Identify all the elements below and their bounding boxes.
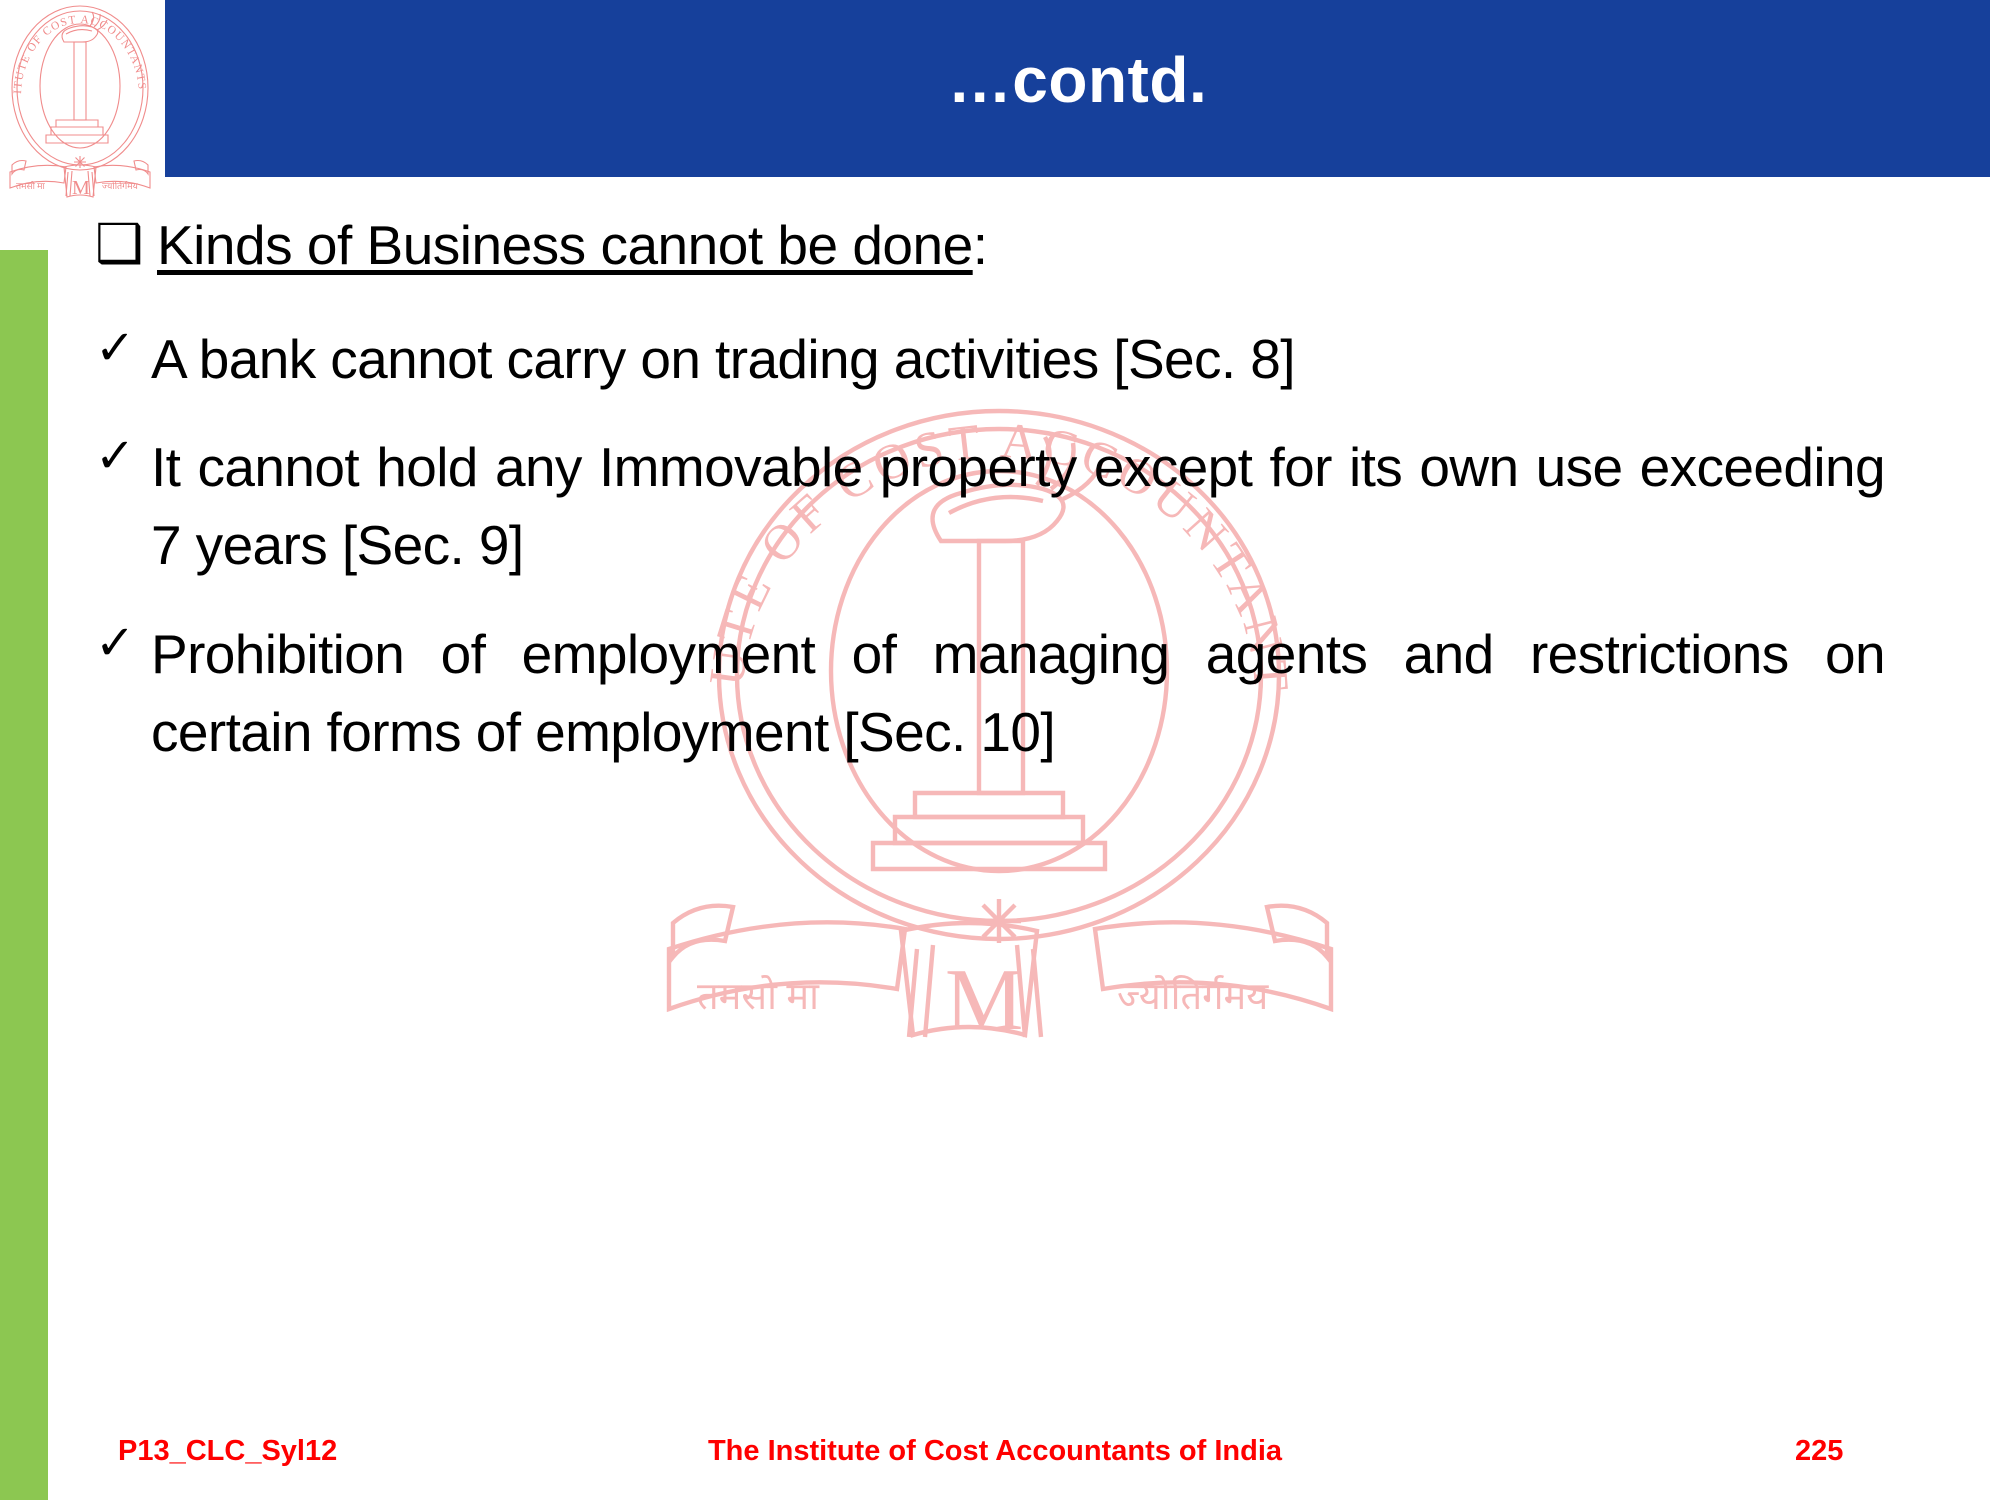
list-item-text: Prohibition of employment of managing ag…: [151, 615, 1885, 771]
page-title: …contd.: [165, 0, 1990, 177]
check-mark-icon: ✓: [95, 320, 151, 377]
footer-organisation: The Institute of Cost Accountants of Ind…: [0, 1435, 1990, 1468]
check-mark-icon: ✓: [95, 428, 151, 485]
list-item: ✓ It cannot hold any Immovable property …: [95, 428, 1885, 584]
list-item-text: A bank cannot carry on trading activitie…: [151, 320, 1885, 398]
heading-colon: :: [973, 214, 988, 276]
heading-row: ❑ Kinds of Business cannot be done:: [95, 216, 1885, 274]
hollow-square-bullet-icon: ❑: [95, 216, 157, 271]
footer-page-number: 225: [1795, 1435, 1843, 1468]
svg-text:THE INSTITUTE OF COST ACCOUNTA: THE INSTITUTE OF COST ACCOUNTANTS OF IND…: [2, 0, 148, 95]
list-item-text: It cannot hold any Immovable property ex…: [151, 428, 1885, 584]
heading-underlined-text: Kinds of Business cannot be done: [157, 214, 973, 276]
slide-body: ❑ Kinds of Business cannot be done: ✓ A …: [95, 216, 1885, 1336]
institute-logo-icon: THE INSTITUTE OF COST ACCOUNTANTS OF IND…: [2, 0, 165, 200]
list-item: ✓ Prohibition of employment of managing …: [95, 615, 1885, 771]
heading-text: Kinds of Business cannot be done:: [157, 216, 1885, 274]
logo-ribbon-right-text: ज्योतिर्गमय: [102, 180, 139, 191]
logo-ribbon-left-text: तमसो मा: [16, 180, 46, 191]
slide-header-bar: …contd.: [165, 0, 1990, 177]
list-item: ✓ A bank cannot carry on trading activit…: [95, 320, 1885, 398]
slide-footer: P13_CLC_Syl12 The Institute of Cost Acco…: [0, 1380, 1990, 1500]
left-accent-band: [0, 250, 48, 1500]
check-mark-icon: ✓: [95, 615, 151, 672]
svg-text:M: M: [72, 177, 90, 199]
